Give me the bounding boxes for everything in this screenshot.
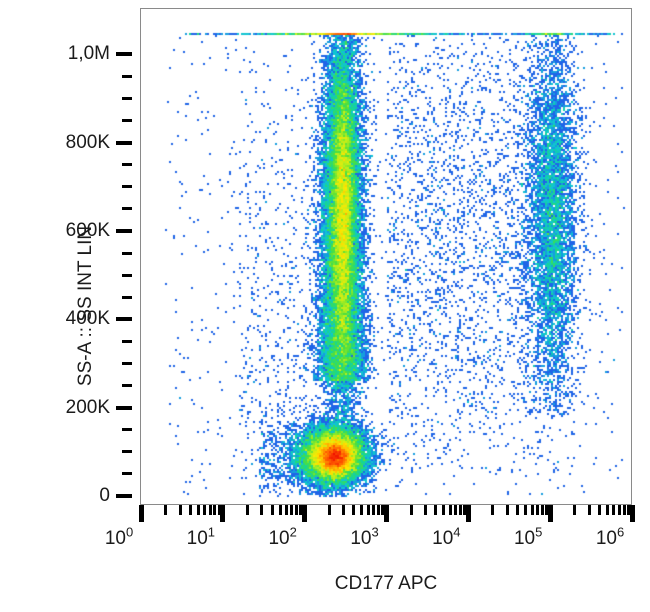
- x-tick-minor: [285, 505, 288, 515]
- x-tick-minor: [271, 505, 274, 515]
- x-tick-mantissa: 10: [187, 528, 208, 549]
- x-tick-minor: [377, 505, 380, 515]
- y-tick-minor: [122, 428, 132, 431]
- x-tick-minor: [189, 505, 192, 515]
- y-tick-label: 0: [99, 486, 110, 505]
- x-tick-label: 103: [350, 529, 378, 548]
- y-tick-minor: [122, 207, 132, 210]
- y-tick-label: 600K: [66, 221, 110, 240]
- y-tick-minor: [122, 472, 132, 475]
- x-tick-minor: [434, 505, 437, 515]
- x-tick-minor: [598, 505, 601, 515]
- x-tick-minor: [424, 505, 427, 515]
- flow-cytometry-plot: SS-A :: SS INT LIN 0200K400K600K800K1,0M…: [0, 0, 650, 612]
- x-tick-exponent: 4: [453, 525, 460, 540]
- x-tick-label: 104: [432, 529, 460, 548]
- x-tick-minor: [246, 505, 249, 515]
- x-tick-minor: [209, 505, 212, 515]
- x-tick-exponent: 6: [617, 525, 624, 540]
- x-tick-major: [466, 505, 471, 522]
- x-tick-minor: [442, 505, 445, 515]
- x-tick-minor: [290, 505, 293, 515]
- y-tick-major: [116, 317, 132, 321]
- x-tick-minor: [612, 505, 615, 515]
- x-tick-minor: [367, 505, 370, 515]
- x-tick-minor: [606, 505, 609, 515]
- x-tick-exponent: 0: [126, 525, 133, 540]
- x-tick-mantissa: 10: [105, 528, 126, 549]
- y-tick-major: [116, 406, 132, 410]
- x-tick-major: [302, 505, 307, 522]
- x-tick-minor: [454, 505, 457, 515]
- x-tick-minor: [623, 505, 626, 515]
- y-tick-minor: [122, 296, 132, 299]
- y-tick-minor: [122, 185, 132, 188]
- x-tick-minor: [352, 505, 355, 515]
- x-tick-mantissa: 10: [268, 528, 289, 549]
- x-tick-minor: [459, 505, 462, 515]
- x-tick-exponent: 5: [535, 525, 542, 540]
- x-tick-minor: [203, 505, 206, 515]
- x-tick-minor: [197, 505, 200, 515]
- x-tick-minor: [279, 505, 282, 515]
- y-tick-major: [116, 229, 132, 233]
- y-tick-major: [116, 52, 132, 56]
- x-tick-label: 102: [268, 529, 296, 548]
- y-tick-major: [116, 141, 132, 145]
- x-tick-major: [548, 505, 553, 522]
- x-tick-minor: [342, 505, 345, 515]
- y-tick-label: 800K: [66, 133, 110, 152]
- x-tick-minor: [573, 505, 576, 515]
- x-tick-major: [630, 505, 635, 522]
- x-tick-minor: [541, 505, 544, 515]
- x-tick-mantissa: 10: [596, 528, 617, 549]
- x-tick-label: 101: [187, 529, 215, 548]
- x-tick-minor: [360, 505, 363, 515]
- y-tick-minor: [122, 252, 132, 255]
- x-axis: CD177 APC 100101102103104105106: [0, 505, 650, 612]
- x-tick-minor: [372, 505, 375, 515]
- y-tick-minor: [122, 362, 132, 365]
- scatter-point-cloud: [141, 9, 631, 504]
- x-tick-major: [139, 505, 144, 522]
- x-tick-minor: [536, 505, 539, 515]
- x-tick-mantissa: 10: [350, 528, 371, 549]
- y-tick-minor: [122, 163, 132, 166]
- x-tick-minor: [328, 505, 331, 515]
- x-tick-minor: [260, 505, 263, 515]
- y-tick-minor: [122, 75, 132, 78]
- x-tick-minor: [524, 505, 527, 515]
- x-tick-mantissa: 10: [432, 528, 453, 549]
- y-tick-major: [116, 494, 132, 498]
- x-tick-minor: [295, 505, 298, 515]
- x-axis-title: CD177 APC: [335, 573, 437, 595]
- x-tick-minor: [618, 505, 621, 515]
- x-tick-minor: [213, 505, 216, 515]
- x-tick-minor: [516, 505, 519, 515]
- plot-area[interactable]: [140, 8, 632, 505]
- y-tick-minor: [122, 450, 132, 453]
- y-tick-minor: [122, 97, 132, 100]
- y-tick-minor: [122, 274, 132, 277]
- x-tick-minor: [491, 505, 494, 515]
- x-tick-minor: [449, 505, 452, 515]
- y-tick-minor: [122, 384, 132, 387]
- y-tick-label: 1,0M: [68, 44, 110, 63]
- x-tick-mantissa: 10: [514, 528, 535, 549]
- y-tick-label: 200K: [66, 398, 110, 417]
- x-tick-minor: [588, 505, 591, 515]
- x-tick-minor: [179, 505, 182, 515]
- x-tick-minor: [506, 505, 509, 515]
- x-tick-major: [384, 505, 389, 522]
- x-tick-exponent: 2: [290, 525, 297, 540]
- x-tick-exponent: 1: [208, 525, 215, 540]
- y-tick-minor: [122, 340, 132, 343]
- y-tick-label: 400K: [66, 309, 110, 328]
- y-axis-title: SS-A :: SS INT LIN: [75, 226, 97, 386]
- x-tick-minor: [164, 505, 167, 515]
- x-tick-label: 100: [105, 529, 133, 548]
- x-tick-label: 105: [514, 529, 542, 548]
- x-tick-label: 106: [596, 529, 624, 548]
- x-tick-minor: [410, 505, 413, 515]
- x-tick-exponent: 3: [371, 525, 378, 540]
- y-tick-minor: [122, 119, 132, 122]
- x-tick-major: [220, 505, 225, 522]
- x-tick-minor: [531, 505, 534, 515]
